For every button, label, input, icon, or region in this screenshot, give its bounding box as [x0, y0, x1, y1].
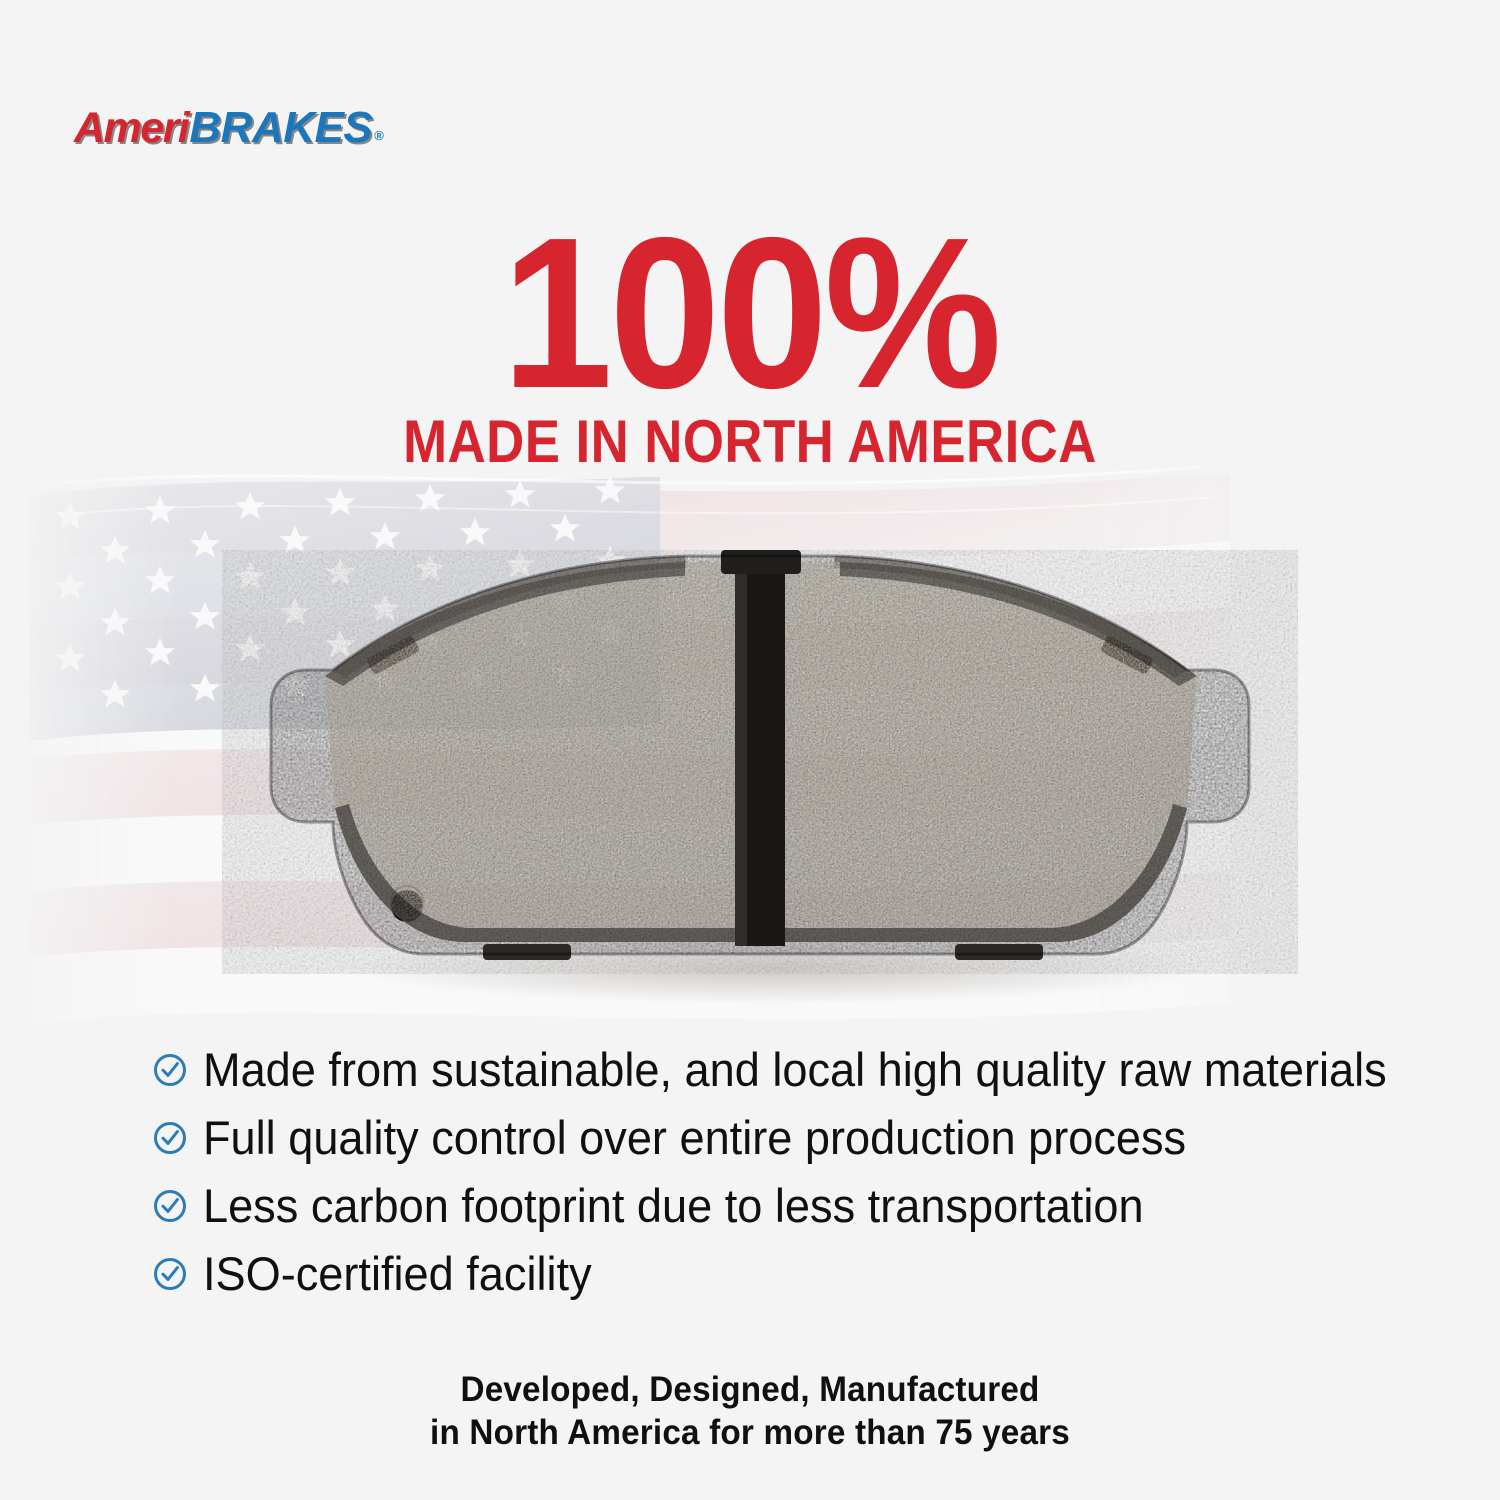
- bottom-tab-left: [483, 944, 571, 960]
- brake-pad-illustration: [215, 550, 1305, 1010]
- logo-text-brakes: BRAKES: [189, 103, 372, 153]
- product-marketing-image: Ameri BRAKES ® 100% MADE IN NORTH AMERIC…: [0, 0, 1500, 1500]
- check-circle-icon: [152, 1256, 188, 1292]
- headline-percent: 100%: [53, 205, 1448, 420]
- center-top-tab: [721, 550, 801, 574]
- check-circle-icon: [152, 1120, 188, 1156]
- footer-line-2: in North America for more than 75 years: [38, 1411, 1463, 1454]
- list-item: Less carbon footprint due to less transp…: [152, 1172, 1402, 1240]
- logo-text-ameri: Ameri: [74, 104, 188, 153]
- feature-list: Made from sustainable, and local high qu…: [152, 1036, 1402, 1308]
- list-item: Full quality control over entire product…: [152, 1104, 1402, 1172]
- feature-text: ISO-certified facility: [203, 1249, 592, 1299]
- footer-tagline: Developed, Designed, Manufactured in Nor…: [0, 1368, 1500, 1454]
- registered-trademark-icon: ®: [374, 128, 384, 143]
- headline-subtitle: MADE IN NORTH AMERICA: [90, 412, 1410, 472]
- feature-text: Full quality control over entire product…: [203, 1113, 1186, 1163]
- brake-pad-product-image: [215, 550, 1305, 1010]
- feature-text: Less carbon footprint due to less transp…: [203, 1181, 1144, 1231]
- list-item: ISO-certified facility: [152, 1240, 1402, 1308]
- check-circle-icon: [152, 1052, 188, 1088]
- list-item: Made from sustainable, and local high qu…: [152, 1036, 1402, 1104]
- feature-text: Made from sustainable, and local high qu…: [203, 1045, 1387, 1095]
- bottom-tab-right: [955, 944, 1043, 960]
- footer-line-1: Developed, Designed, Manufactured: [38, 1368, 1463, 1411]
- check-circle-icon: [152, 1188, 188, 1224]
- ameribrakes-logo: Ameri BRAKES ®: [74, 103, 384, 153]
